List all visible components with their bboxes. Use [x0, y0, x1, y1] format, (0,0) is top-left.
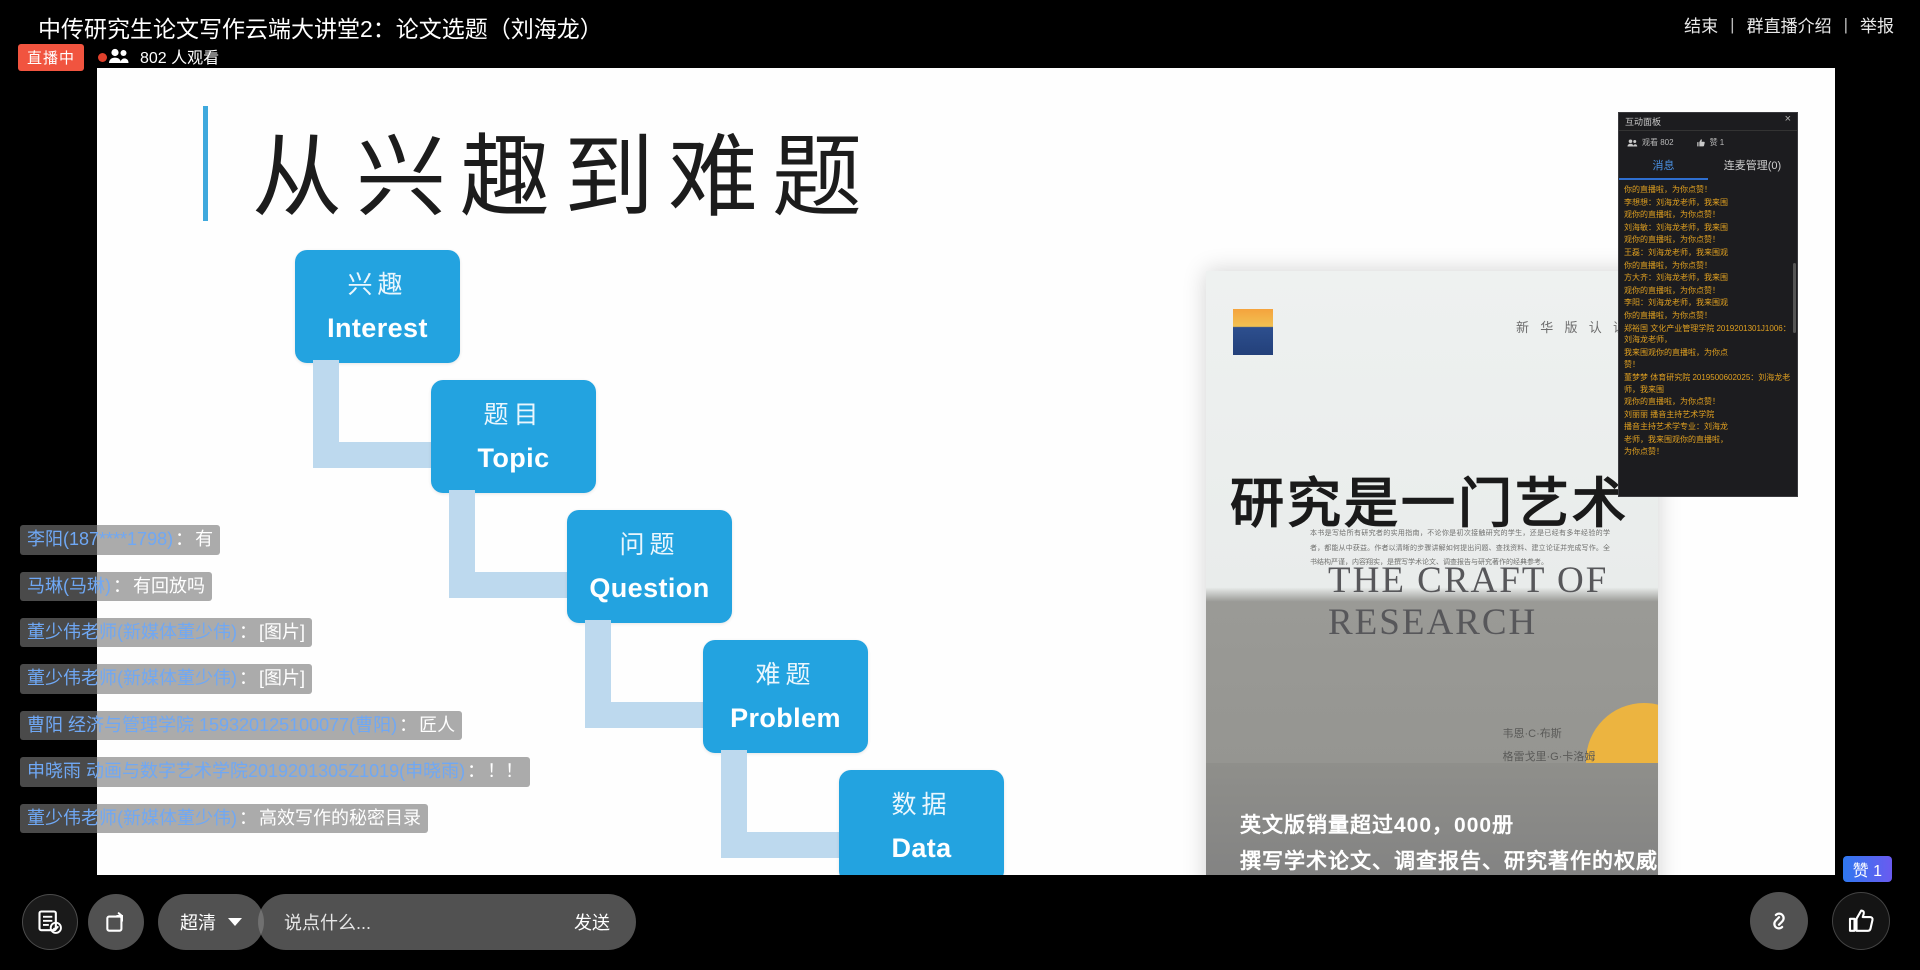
book-band-line2: 撰写学术论文、调查报告、研究著作的权威指南	[1240, 845, 1658, 875]
panel-message: 观你的直播啦，为你点赞！	[1624, 396, 1792, 408]
flow-box-topic-cn: 题目	[483, 399, 543, 433]
slide-title-accent-bar	[203, 106, 208, 221]
flow-box-topic: 题目 Topic	[431, 380, 596, 493]
panel-message: 方大齐：刘海龙老师，我来围	[1624, 272, 1792, 284]
stream-header: 中传研究生论文写作云端大讲堂2：论文选题（刘海龙） 直播中 802 人观看 结束…	[0, 0, 1920, 68]
tab-mic-management[interactable]: 连麦管理(0)	[1708, 154, 1797, 180]
end-stream-link[interactable]: 结束	[1684, 12, 1718, 37]
book-band-line1: 英文版销量超过400，000册	[1240, 809, 1514, 839]
chat-message: 曹阳 经济与管理学院 159320125100077(曹阳)：匠人	[20, 711, 660, 740]
panel-message: 观你的直播啦，为你点赞！	[1624, 209, 1792, 221]
panel-message: 观你的直播啦，为你点赞！	[1624, 285, 1792, 297]
chat-message: 李阳(187****1798)：有	[20, 525, 660, 554]
flow-box-data-cn: 数据	[891, 789, 951, 823]
panel-scrollbar[interactable]	[1793, 263, 1796, 333]
viewers-icon	[108, 48, 130, 64]
chat-text: 有	[195, 529, 213, 549]
panel-message: 刘海敏：刘海龙老师，我来围	[1624, 222, 1792, 234]
thumbs-up-icon	[1846, 906, 1876, 936]
note-check-icon	[36, 908, 64, 936]
flow-box-topic-en: Topic	[478, 443, 550, 474]
flow-box-data-en: Data	[891, 833, 951, 864]
chat-colon: ：	[113, 576, 131, 596]
chat-text: 匠人	[419, 715, 455, 735]
panel-message: 观你的直播啦，为你点赞！	[1624, 234, 1792, 246]
chat-colon: ：	[239, 668, 257, 688]
chat-nickname: 董少伟老师(新媒体董少伟)	[27, 668, 237, 688]
book-cover-photo: 新 华 版 认 证 研究是一门艺术 本书是写给所有研究者的实用指南，不论你是初次…	[1206, 271, 1658, 875]
chat-nickname: 董少伟老师(新媒体董少伟)	[27, 808, 237, 828]
panel-message: 老师，我来围观你的直播啦，	[1624, 434, 1792, 446]
chat-message: 马琳(马琳)：有回放吗	[20, 572, 660, 601]
viewer-count: 802 人观看	[108, 44, 219, 68]
book-english-title-line1: THE CRAFT OF	[1328, 559, 1608, 602]
chat-message: 董少伟老师(新媒体董少伟)：[图片]	[20, 618, 660, 647]
quality-selector[interactable]: 超清	[158, 894, 264, 950]
chat-nickname: 曹阳 经济与管理学院 159320125100077(曹阳)	[27, 715, 397, 735]
chat-colon: ：	[239, 622, 257, 642]
recording-dot-icon	[98, 53, 107, 62]
panel-message: 你的直播啦，为你点赞！	[1624, 310, 1792, 322]
chat-colon: ：	[399, 715, 417, 735]
chat-nickname: 董少伟老师(新媒体董少伟)	[27, 622, 237, 642]
chat-message: 申晓雨 动画与数字艺术学院2019201305Z1019(申晓雨)：！！	[20, 757, 660, 786]
link-share-icon	[1764, 906, 1794, 936]
share-button[interactable]	[1750, 892, 1808, 950]
interaction-panel-header: 互动面板 ×	[1619, 113, 1797, 131]
book-english-title-line2: RESEARCH	[1328, 601, 1537, 644]
chat-nickname: 李阳(187****1798)	[27, 529, 173, 549]
viewer-count-label: 802 人观看	[140, 44, 219, 68]
chat-colon: ：	[175, 529, 193, 549]
like-count-badge: 赞 1	[1843, 856, 1892, 882]
panel-message: 王磊：刘海龙老师，我来围观	[1624, 247, 1792, 259]
slide-title: 从兴趣到难题	[252, 104, 876, 234]
panel-viewers-stat: 观看 802	[1627, 137, 1674, 148]
flow-box-interest-cn: 兴趣	[347, 269, 407, 303]
panel-message: 李阳：刘海龙老师，我来围观	[1624, 297, 1792, 309]
rotate-screen-icon	[103, 909, 129, 935]
thumbs-up-icon	[1696, 138, 1706, 148]
flow-box-problem: 难题 Problem	[703, 640, 868, 753]
book-publisher-mark: 新 华 版 认 证	[1516, 317, 1630, 336]
interaction-panel-message-list[interactable]: 你的直播啦，为你点赞！ 李想想：刘海龙老师，我来围 观你的直播啦，为你点赞！ 刘…	[1619, 180, 1797, 480]
tab-messages[interactable]: 消息	[1619, 154, 1708, 180]
header-separator-1: |	[1730, 15, 1734, 35]
flow-box-interest-en: Interest	[327, 313, 428, 344]
flow-box-problem-en: Problem	[730, 703, 841, 734]
panel-message: 你的直播啦，为你点赞！	[1624, 184, 1792, 196]
chat-text: 有回放吗	[133, 576, 205, 596]
note-check-button[interactable]	[22, 894, 78, 950]
chat-message: 董少伟老师(新媒体董少伟)：[图片]	[20, 664, 660, 693]
message-input-container[interactable]: 说点什么... 发送	[258, 894, 636, 950]
header-actions: 结束 | 群直播介绍 | 举报	[1684, 12, 1894, 37]
quality-label: 超清	[180, 909, 216, 935]
flow-box-data: 数据 Data	[839, 770, 1004, 875]
bottom-toolbar: 超清 说点什么... 发送 赞 1	[0, 874, 1920, 970]
flow-box-problem-cn: 难题	[755, 659, 815, 693]
chat-text: [图片]	[259, 622, 305, 642]
panel-message: 李想想：刘海龙老师，我来围	[1624, 197, 1792, 209]
rotate-screen-button[interactable]	[88, 894, 144, 950]
panel-message: 播音主持艺术学专业：刘海龙	[1624, 421, 1792, 433]
panel-message: 我来围观你的直播啦，为你点	[1624, 347, 1792, 359]
interaction-panel-stats: 观看 802 赞 1	[1619, 131, 1797, 150]
chat-nickname: 马琳(马琳)	[27, 576, 111, 596]
live-status: 直播中	[18, 44, 107, 71]
interaction-panel-tabs: 消息 连麦管理(0)	[1619, 154, 1797, 180]
close-icon[interactable]: ×	[1785, 114, 1791, 125]
panel-message: 郑裕国 文化产业管理学院 2019201301J1006：刘海龙老师，	[1624, 323, 1792, 346]
message-input[interactable]: 说点什么...	[284, 909, 371, 935]
flow-box-interest: 兴趣 Interest	[295, 250, 460, 363]
chevron-down-icon	[228, 918, 242, 926]
chat-overlay: 李阳(187****1798)：有 马琳(马琳)：有回放吗 董少伟老师(新媒体董…	[20, 525, 660, 850]
like-button[interactable]	[1832, 892, 1890, 950]
chat-text: [图片]	[259, 668, 305, 688]
panel-message: 为你点赞！	[1624, 446, 1792, 458]
interaction-panel[interactable]: 互动面板 × 观看 802 赞 1 消息 连麦管理(0)	[1618, 112, 1798, 497]
header-separator-2: |	[1844, 15, 1848, 35]
panel-likes-label: 赞 1	[1710, 137, 1725, 148]
panel-message: 赞！	[1624, 359, 1792, 371]
panel-likes-stat: 赞 1	[1696, 137, 1725, 148]
stream-intro-link[interactable]: 群直播介绍	[1747, 12, 1832, 37]
report-link[interactable]: 举报	[1860, 12, 1894, 37]
chat-text: ！！	[487, 761, 523, 781]
panel-message: 董梦梦 体育研究院 2019500602025：刘海龙老师，我来围	[1624, 372, 1792, 395]
chat-colon: ：	[467, 761, 485, 781]
chat-text: 高效写作的秘密目录	[259, 808, 421, 828]
live-stream-app: 从兴趣到难题 兴趣 Interest 题目 Topic 问题	[0, 0, 1920, 970]
panel-message: 你的直播啦，为你点赞！	[1624, 260, 1792, 272]
page-title: 中传研究生论文写作云端大讲堂2：论文选题（刘海龙）	[38, 10, 603, 44]
interaction-panel-title: 互动面板	[1625, 115, 1661, 128]
chat-message: 董少伟老师(新媒体董少伟)：高效写作的秘密目录	[20, 804, 660, 833]
panel-viewers-label: 观看 802	[1642, 137, 1674, 148]
live-badge: 直播中	[18, 44, 84, 71]
chat-colon: ：	[239, 808, 257, 828]
chat-nickname: 申晓雨 动画与数字艺术学院2019201305Z1019(申晓雨)	[27, 761, 465, 781]
viewers-icon	[1627, 139, 1638, 147]
send-button[interactable]: 发送	[574, 909, 610, 935]
publisher-logo-icon	[1233, 309, 1273, 355]
panel-message: 刘丽丽 播音主持艺术学院	[1624, 409, 1792, 421]
